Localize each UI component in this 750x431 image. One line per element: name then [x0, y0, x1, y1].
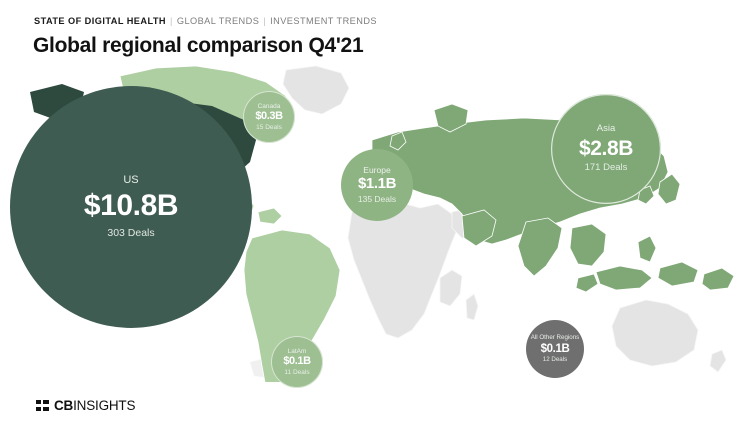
bubble-us-value: $10.8B [84, 189, 178, 223]
bubble-canada[interactable]: Canada $0.3B 15 Deals [243, 91, 295, 143]
bubble-us[interactable]: US $10.8B 303 Deals [10, 86, 252, 328]
bubble-latam[interactable]: LatAm $0.1B 11 Deals [271, 336, 323, 388]
cbinsights-wordmark: CBINSIGHTS [54, 398, 135, 413]
page-title: Global regional comparison Q4'21 [33, 32, 363, 60]
bubble-all-other-regions-deals: 12 Deals [543, 357, 567, 364]
bubble-europe-value: $1.1B [358, 176, 396, 193]
breadcrumb-separator-2: | [259, 16, 270, 26]
bubble-canada-value: $0.3B [255, 110, 282, 122]
bubble-latam-region: LatAm [288, 348, 307, 355]
bubble-asia-value: $2.8B [579, 137, 633, 161]
bubble-asia[interactable]: Asia $2.8B 171 Deals [551, 94, 661, 204]
bubble-canada-region: Canada [258, 103, 281, 110]
breadcrumb-item-investment-trends: INVESTMENT TRENDS [270, 16, 377, 26]
breadcrumb-separator-1: | [166, 16, 177, 26]
breadcrumb-item-global-trends: GLOBAL TRENDS [177, 16, 259, 26]
bubble-asia-deals: 171 Deals [585, 163, 628, 174]
bubble-canada-deals: 15 Deals [256, 124, 282, 131]
infographic-canvas: STATE OF DIGITAL HEALTH|GLOBAL TRENDS|IN… [0, 0, 750, 431]
logo-text-regular: INSIGHTS [73, 398, 135, 413]
bubble-europe[interactable]: Europe $1.1B 135 Deals [341, 149, 413, 221]
bubble-latam-deals: 11 Deals [284, 369, 309, 376]
bubble-asia-region: Asia [597, 124, 615, 135]
breadcrumb-kicker: STATE OF DIGITAL HEALTH [34, 16, 166, 26]
bubble-europe-region: Europe [363, 166, 390, 176]
bubble-all-other-regions[interactable]: All Other Regions $0.1B 12 Deals [526, 320, 584, 378]
bubble-all-other-regions-region: All Other Regions [531, 334, 580, 342]
bubble-all-other-regions-value: $0.1B [541, 343, 570, 356]
bubble-latam-value: $0.1B [283, 355, 310, 367]
cbinsights-mark-icon [36, 400, 49, 411]
breadcrumb: STATE OF DIGITAL HEALTH|GLOBAL TRENDS|IN… [34, 15, 377, 27]
bubble-us-region: US [123, 174, 138, 186]
bubble-us-deals: 303 Deals [107, 228, 154, 240]
world-map: US $10.8B 303 Deals Asia $2.8B 171 Deals… [0, 62, 750, 382]
bubble-europe-deals: 135 Deals [358, 195, 396, 205]
logo-text-bold: CB [54, 398, 73, 413]
cbinsights-logo: CBINSIGHTS [36, 398, 135, 413]
